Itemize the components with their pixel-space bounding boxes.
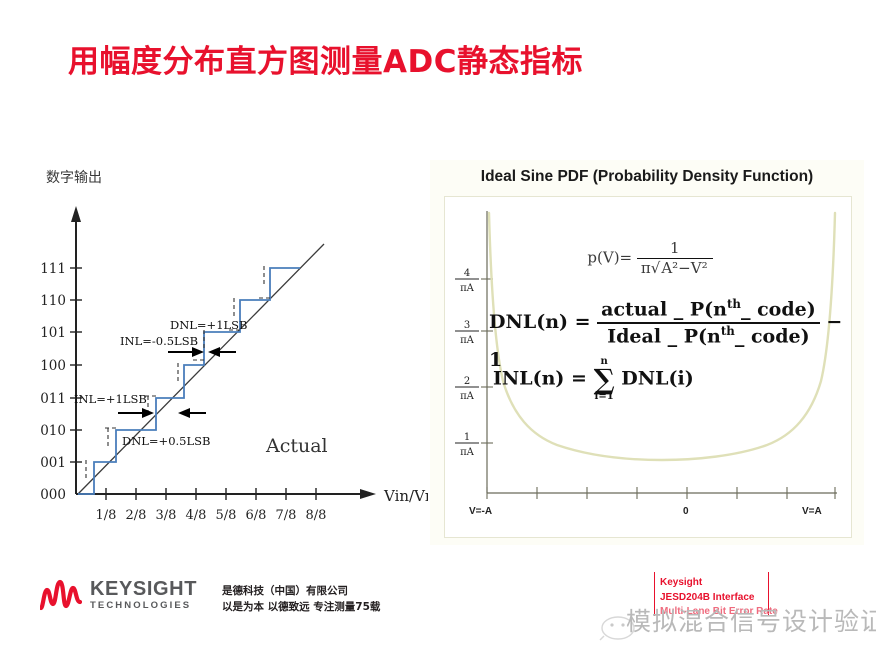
pdf-x-tick-labels: V=-A 0 V=A (469, 506, 822, 517)
pdf-formula-lhs: p(V)= (587, 248, 632, 266)
pdf-formula-numerator: 1 (637, 239, 713, 259)
dnl-formula-fraction: actual _ P(nth_ code) Ideal _ P(nth_ cod… (597, 297, 820, 349)
adc-transfer-svg: 数字输出 111 110 101 100 011 (28, 160, 428, 535)
pdf-formula-fraction: 1 π√A²−V² (637, 239, 713, 278)
svg-text:3/8: 3/8 (156, 508, 177, 523)
svg-text:001: 001 (40, 455, 66, 471)
svg-text:2: 2 (464, 376, 470, 387)
company-line-1: 是德科技（中国）有限公司 (222, 583, 380, 599)
ideal-sine-pdf-figure: Ideal Sine PDF (Probability Density Func… (430, 160, 864, 545)
keysight-brand-name: KEYSIGHT (90, 579, 197, 599)
annotation-inl-minus-half-lsb: INL=-0.5LSB (120, 334, 198, 348)
pdf-xtick-min: V=-A (469, 506, 492, 517)
svg-text:110: 110 (40, 293, 66, 309)
svg-text:7/8: 7/8 (276, 508, 297, 523)
pdf-xtick-max: V=A (802, 506, 822, 517)
page-title: 用幅度分布直方图测量ADC静态指标 (68, 36, 583, 81)
svg-text:3: 3 (464, 320, 470, 331)
dnl-formula-lhs: DNL(n) = (489, 311, 591, 333)
svg-text:1: 1 (464, 432, 470, 443)
inl-formula-body: DNL(i) (621, 368, 693, 390)
svg-text:1/8: 1/8 (96, 508, 117, 523)
pdf-plot-panel: 4πA 3πA 2πA 1πA V=-A (444, 196, 852, 538)
annotation-arrows (118, 347, 236, 418)
svg-text:πA: πA (460, 283, 475, 294)
x-axis-title: Vin/Vref (383, 487, 428, 505)
x-axis-arrow (360, 489, 376, 499)
svg-text:2/8: 2/8 (126, 508, 147, 523)
y-tick-labels: 111 110 101 100 011 010 001 000 (40, 261, 66, 503)
svg-text:4: 4 (464, 268, 470, 279)
watermark-red-line-1: Keysight (660, 576, 778, 591)
slide-root: 用幅度分布直方图测量ADC静态指标 数字输出 111 110 (0, 0, 876, 657)
inl-formula: INL(n) = n ∑ i=1 DNL(i) (493, 357, 694, 402)
company-line-2: 以是为本 以德致远 专注测量75载 (222, 599, 380, 615)
inl-formula-lhs: INL(n) = (493, 368, 587, 390)
pdf-formula-denominator: π√A²−V² (637, 259, 713, 278)
svg-text:010: 010 (40, 423, 66, 439)
svg-text:πA: πA (460, 391, 475, 402)
svg-text:πA: πA (460, 335, 475, 346)
keysight-wordmark: KEYSIGHT TECHNOLOGIES (90, 579, 197, 611)
keysight-wave-icon (40, 578, 82, 612)
svg-text:8/8: 8/8 (306, 508, 327, 523)
company-info: 是德科技（中国）有限公司 以是为本 以德致远 专注测量75载 (222, 583, 380, 616)
svg-text:πA: πA (460, 447, 475, 458)
svg-text:4/8: 4/8 (186, 508, 207, 523)
annotation-inl-plus-1lsb: INL=+1LSB (74, 392, 147, 406)
annotation-dnl-1lsb: DNL=+1LSB (170, 318, 247, 332)
svg-text:000: 000 (40, 487, 66, 503)
dnl-formula-numerator: actual _ P(nth_ code) (597, 297, 820, 324)
adc-transfer-function-figure: 数字输出 111 110 101 100 011 (28, 160, 428, 535)
dnl-formula-denominator: Ideal _ P(nth_ code) (597, 324, 820, 349)
watermark-block: Keysight JESD204B Interface Multi-Lane B… (598, 568, 876, 657)
watermark-chinese-text: 模拟混合信号设计验证 (626, 602, 876, 638)
keysight-logo: KEYSIGHT TECHNOLOGIES (40, 578, 197, 612)
keysight-brand-sub: TECHNOLOGIES (90, 601, 197, 611)
svg-text:111: 111 (40, 261, 66, 277)
pdf-xtick-zero: 0 (683, 506, 689, 517)
sum-lower-limit: i=1 (594, 392, 615, 402)
pdf-figure-title: Ideal Sine PDF (Probability Density Func… (430, 168, 864, 186)
annotation-dnl-half-lsb: DNL=+0.5LSB (122, 434, 210, 448)
sigma-glyph: ∑ (594, 367, 615, 392)
summation-symbol: n ∑ i=1 (594, 357, 615, 402)
svg-text:100: 100 (40, 358, 66, 374)
pdf-y-tick-labels: 4πA 3πA 2πA 1πA (455, 268, 479, 458)
svg-text:011: 011 (40, 391, 66, 407)
actual-curve-label: Actual (265, 435, 328, 457)
svg-text:101: 101 (40, 325, 66, 341)
svg-text:5/8: 5/8 (216, 508, 237, 523)
y-axis-arrow (71, 206, 81, 222)
svg-text:6/8: 6/8 (246, 508, 267, 523)
x-tick-labels: 1/8 2/8 3/8 4/8 5/8 6/8 7/8 8/8 (96, 508, 327, 523)
pdf-formula: p(V)= 1 π√A²−V² (505, 239, 795, 278)
y-axis-title: 数字输出 (46, 170, 102, 186)
